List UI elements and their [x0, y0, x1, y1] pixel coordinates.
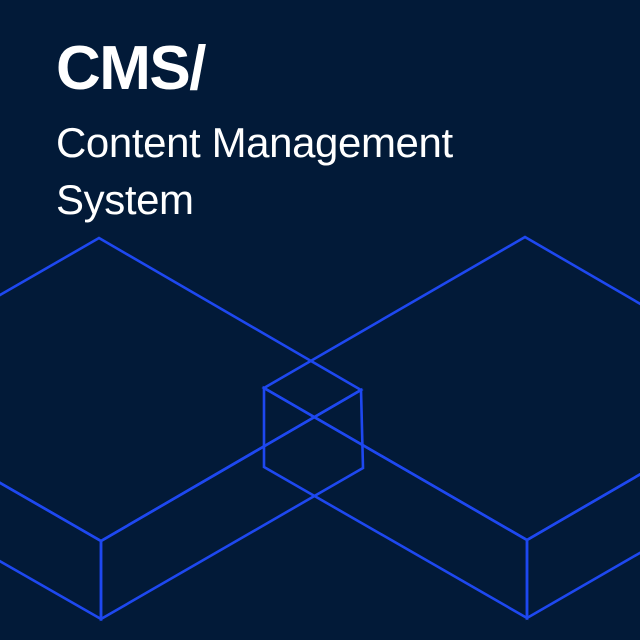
- primary-box: [264, 237, 640, 618]
- primary-box-top-face: [264, 237, 640, 540]
- page-subtitle: Content Management System: [56, 114, 536, 228]
- page-title: CMS/: [56, 36, 596, 102]
- cover-text-block: CMS/ Content Management System: [56, 36, 596, 228]
- primary-box-right-face: [527, 389, 640, 618]
- secondary-box-left-face: [0, 389, 101, 619]
- secondary-box-right-face: [101, 390, 363, 619]
- secondary-box-left: [0, 238, 363, 619]
- cover-canvas: CMS/ Content Management System: [0, 0, 640, 640]
